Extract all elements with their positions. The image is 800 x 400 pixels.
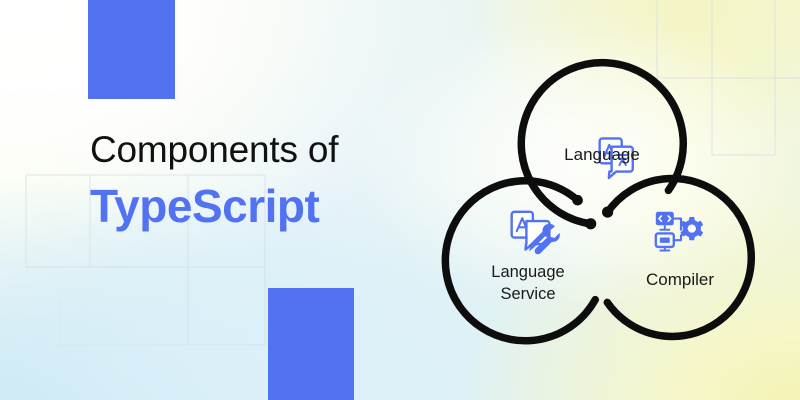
node-language-service[interactable]: Language Service [445,181,595,341]
headline-line-1: Components of [90,128,430,172]
node-language-label: Language [564,145,640,164]
node-language-endpoint-dot [585,218,596,229]
components-venn-diagram: Language Language [430,55,780,365]
node-language-ring [521,63,683,224]
node-compiler-label: Compiler [646,270,714,289]
node-language-service-endpoint-dot [572,195,583,206]
headline-block: Components of TypeScript [90,128,430,233]
blue-rectangle-bottom [268,288,354,400]
node-compiler[interactable]: Compiler [602,178,751,336]
tools-card-icon [512,212,560,254]
node-language-service-label-line1: Language [491,263,564,281]
node-compiler-ring [607,178,751,336]
node-language-service-label-line2: Service [500,285,555,303]
headline-line-2: TypeScript [90,179,430,233]
gear-code-icon [656,212,703,251]
node-language-service-ring [445,181,595,341]
node-compiler-endpoint-dot [602,207,613,218]
blue-rectangle-top [88,0,175,99]
node-language[interactable]: Language [521,63,683,230]
infographic-canvas: Components of TypeScript Language [0,0,800,400]
